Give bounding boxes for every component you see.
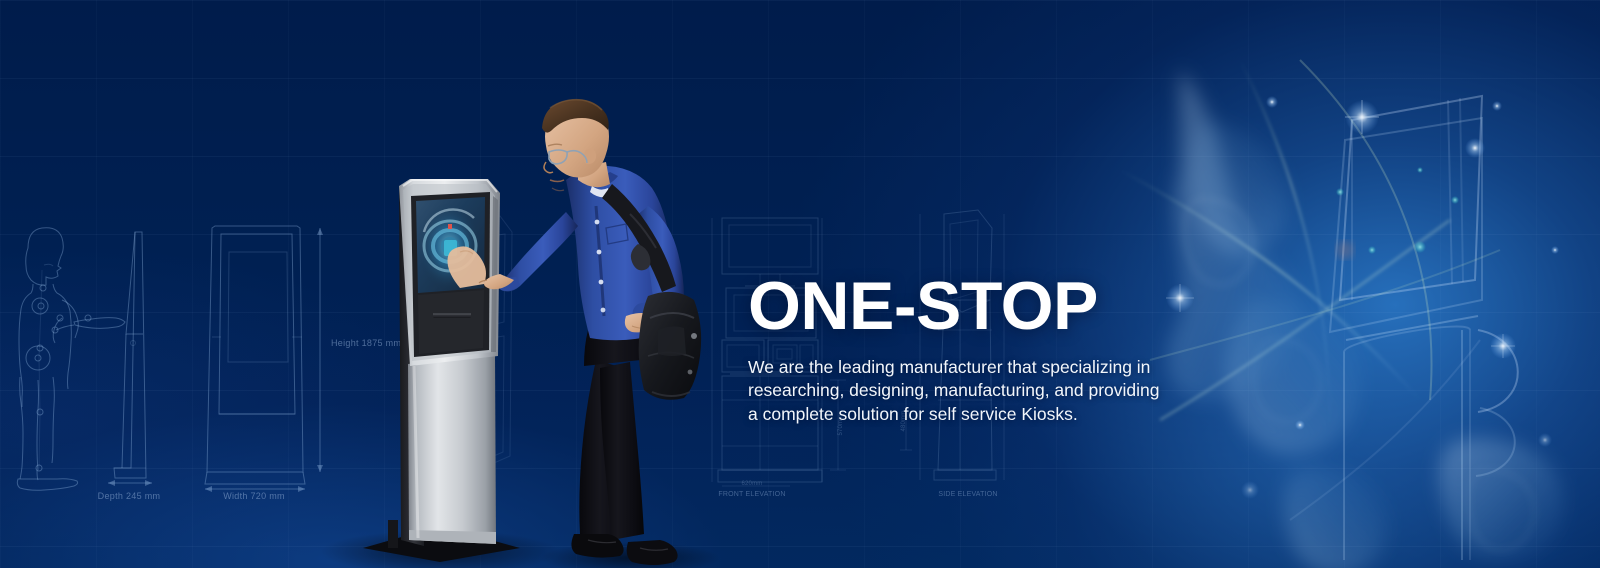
hero-banner: Depth 245 mm Width 720 mm Height 1875 mm	[0, 0, 1600, 568]
person-shoe-back	[571, 534, 623, 558]
bag-front-pocket	[658, 326, 686, 356]
hero-text-block: ONE-STOP We are the leading manufacturer…	[748, 272, 1218, 426]
kiosk-pedestal	[408, 352, 496, 544]
page-title: ONE-STOP	[748, 272, 1218, 341]
kiosk-screen-content	[416, 197, 486, 293]
kiosk-lower-panel	[418, 290, 484, 354]
man-using-kiosk-photo	[479, 99, 701, 565]
bag-zipper-pull	[691, 333, 697, 339]
hero-subcopy: We are the leading manufacturer that spe…	[748, 356, 1168, 425]
self-service-kiosk-photo	[363, 179, 520, 562]
